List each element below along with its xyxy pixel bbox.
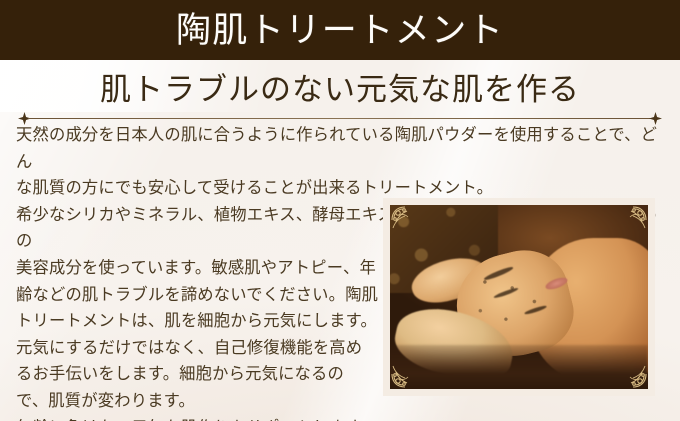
promo-banner: 陶肌トリートメント 肌トラブルのない元気な肌を作る 天然の成分を日本人の肌に合う… — [0, 0, 680, 421]
page-title: 陶肌トリートメント — [176, 13, 505, 48]
treatment-photo — [390, 205, 648, 389]
filigree-corner-icon — [613, 206, 647, 240]
header-band: 陶肌トリートメント — [0, 0, 680, 60]
treatment-photo-frame — [383, 198, 655, 396]
subtitle-area: 肌トラブルのない元気な肌を作る — [0, 60, 680, 112]
body-line: 元気にするだけではなく、自己修復機能を高め — [16, 335, 384, 362]
body-line: トリートメントは、肌を細胞から元気にします。 — [16, 308, 384, 335]
divider-rule — [28, 118, 652, 119]
body-line: 年齢に負けない元気な肌作りをサポートします。 — [16, 415, 384, 421]
subtitle-text: 肌トラブルのない元気な肌を作る — [100, 64, 580, 109]
body-line: るお手伝いをします。細胞から元気になるの — [16, 361, 384, 388]
body-line: で、肌質が変わります。 — [16, 388, 384, 415]
towel-foreground — [390, 345, 648, 389]
body-line: 天然の成分を日本人の肌に合うように作られている陶肌パウダーを使用することで、どん — [16, 122, 666, 175]
body-line: 美容成分を使っています。敏感肌やアトピー、年 — [16, 255, 384, 282]
body-line: 齢などの肌トラブルを諦めないでください。陶肌 — [16, 282, 384, 309]
